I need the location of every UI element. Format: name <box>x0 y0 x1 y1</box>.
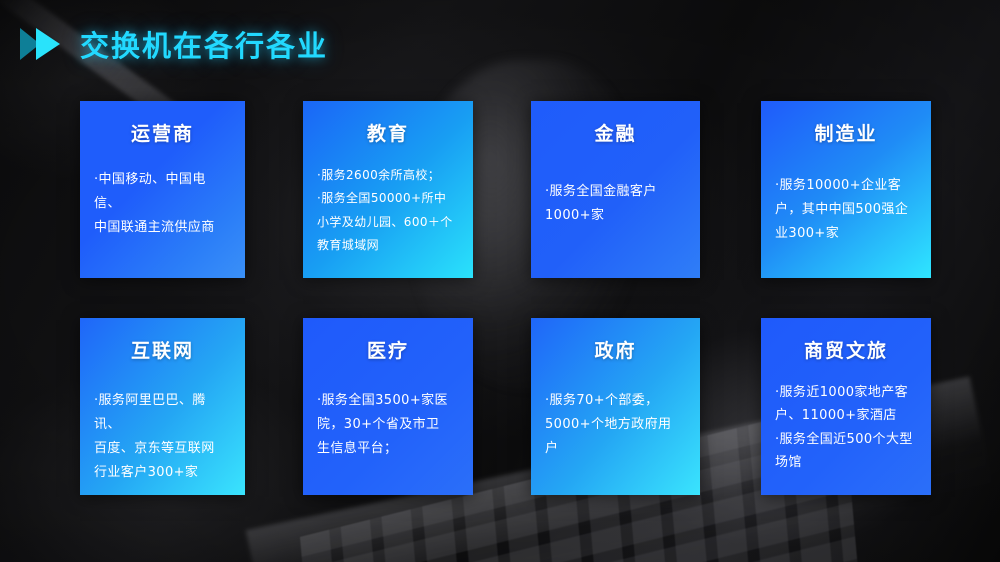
card-line: ·中国移动、中国电信、 <box>94 168 231 216</box>
card-title: 金融 <box>545 119 686 146</box>
card-line: ·服务10000+企业客 <box>775 174 917 198</box>
card-line: 生信息平台； <box>317 437 459 461</box>
card-line: ·服务阿里巴巴、腾讯、 <box>94 389 231 437</box>
card-title: 医疗 <box>317 336 459 363</box>
card-line: ·服务2600余所高校； <box>317 164 459 187</box>
card-line: 场馆 <box>775 451 917 474</box>
card-line: 5000+个地方政府用 <box>545 413 686 437</box>
card-commerce-tourism[interactable]: 商贸文旅 ·服务近1000家地产客 户、11000+家酒店 ·服务全国近500个… <box>761 318 931 495</box>
card-body: ·服务2600余所高校； ·服务全国50000+所中 小学及幼儿园、600＋个 … <box>317 164 459 258</box>
card-line: ·服务70+个部委， <box>545 389 686 413</box>
card-body: ·中国移动、中国电信、 中国联通主流供应商 <box>94 168 231 240</box>
slide-canvas: 交换机在各行各业 运营商 ·中国移动、中国电信、 中国联通主流供应商 教育 ·服… <box>0 0 1000 562</box>
card-internet[interactable]: 互联网 ·服务阿里巴巴、腾讯、 百度、京东等互联网 行业客户300+家 <box>80 318 245 495</box>
card-line: 户，其中中国500强企 <box>775 198 917 222</box>
card-line: ·服务全国近500个大型 <box>775 428 917 451</box>
card-body: ·服务10000+企业客 户，其中中国500强企 业300+家 <box>775 174 917 246</box>
card-title: 运营商 <box>94 119 231 146</box>
card-body: ·服务近1000家地产客 户、11000+家酒店 ·服务全国近500个大型 场馆 <box>775 381 917 475</box>
card-line: 户、11000+家酒店 <box>775 404 917 427</box>
card-education[interactable]: 教育 ·服务2600余所高校； ·服务全国50000+所中 小学及幼儿园、600… <box>303 101 473 278</box>
card-manufacturing[interactable]: 制造业 ·服务10000+企业客 户，其中中国500强企 业300+家 <box>761 101 931 278</box>
card-body: ·服务全国3500+家医 院，30+个省及市卫 生信息平台； <box>317 389 459 461</box>
card-title: 制造业 <box>775 119 917 146</box>
card-title: 商贸文旅 <box>775 336 917 363</box>
card-line: ·服务近1000家地产客 <box>775 381 917 404</box>
card-government[interactable]: 政府 ·服务70+个部委， 5000+个地方政府用 户 <box>531 318 700 495</box>
card-line: 教育城域网 <box>317 234 459 257</box>
card-healthcare[interactable]: 医疗 ·服务全国3500+家医 院，30+个省及市卫 生信息平台； <box>303 318 473 495</box>
card-line: 中国联通主流供应商 <box>94 216 231 240</box>
card-line: 行业客户300+家 <box>94 461 231 485</box>
card-line: 户 <box>545 437 686 461</box>
card-body: ·服务全国金融客户 1000+家 <box>545 180 686 228</box>
card-line: ·服务全国金融客户 <box>545 180 686 204</box>
card-line: ·服务全国50000+所中 <box>317 187 459 210</box>
card-title: 教育 <box>317 119 459 146</box>
card-body: ·服务70+个部委， 5000+个地方政府用 户 <box>545 389 686 461</box>
card-line: 小学及幼儿园、600＋个 <box>317 211 459 234</box>
card-line: 百度、京东等互联网 <box>94 437 231 461</box>
industry-card-grid: 运营商 ·中国移动、中国电信、 中国联通主流供应商 教育 ·服务2600余所高校… <box>0 0 1000 562</box>
card-line: 业300+家 <box>775 222 917 246</box>
card-body: ·服务阿里巴巴、腾讯、 百度、京东等互联网 行业客户300+家 <box>94 389 231 485</box>
card-line: ·服务全国3500+家医 <box>317 389 459 413</box>
card-line: 院，30+个省及市卫 <box>317 413 459 437</box>
card-title: 互联网 <box>94 336 231 363</box>
card-finance[interactable]: 金融 ·服务全国金融客户 1000+家 <box>531 101 700 278</box>
card-title: 政府 <box>545 336 686 363</box>
card-operator[interactable]: 运营商 ·中国移动、中国电信、 中国联通主流供应商 <box>80 101 245 278</box>
card-line: 1000+家 <box>545 204 686 228</box>
